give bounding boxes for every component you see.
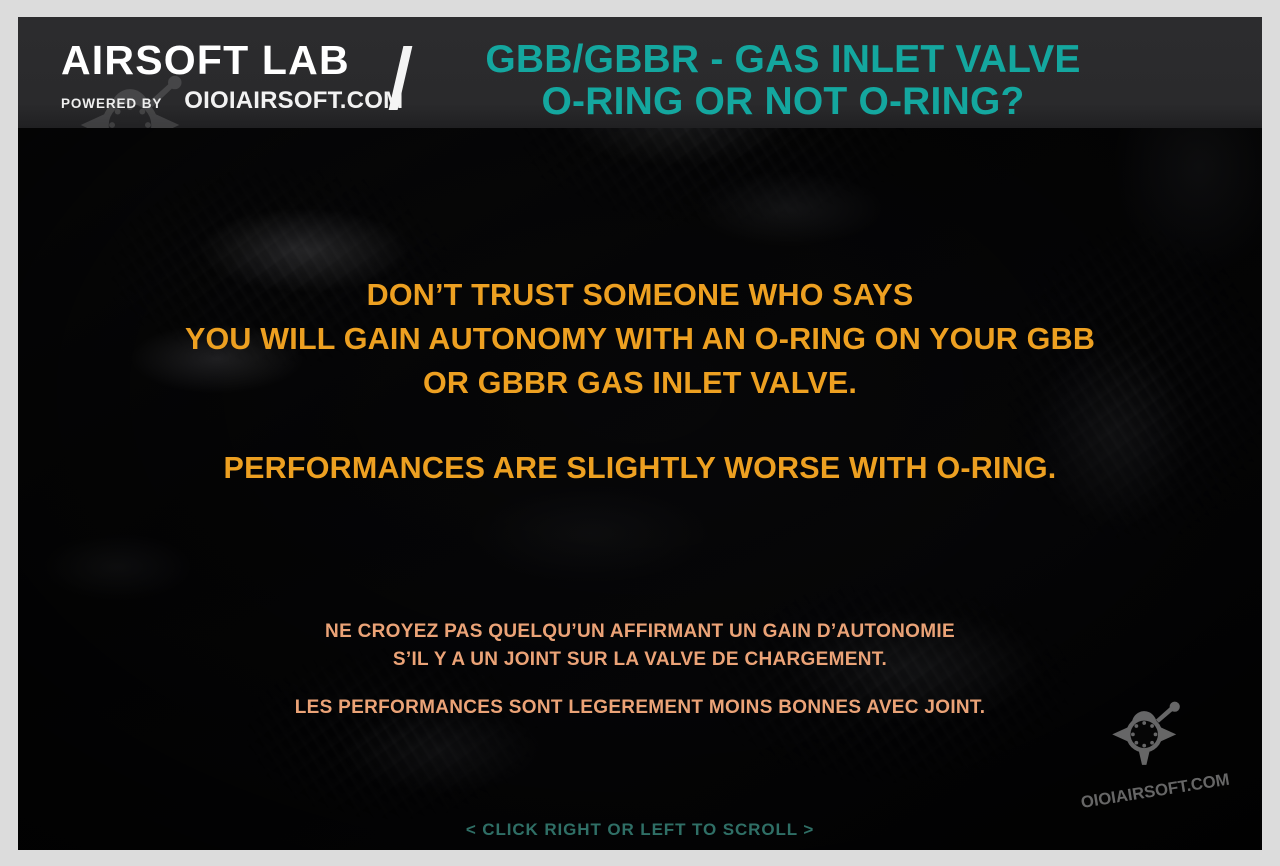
page-title-line-1: GBB/GBBR - GAS INLET VALVE [485, 38, 1080, 81]
secondary-line-2: S’IL Y A UN JOINT SUR LA VALVE DE CHARGE… [18, 646, 1262, 674]
brand-subtitle-row: POWERED BY OIOIAIRSOFT.COM [51, 87, 381, 115]
primary-line-2: YOU WILL GAIN AUTONOMY WITH AN O-RING ON… [18, 317, 1262, 361]
scroll-hint[interactable]: < CLICK RIGHT OR LEFT TO SCROLL > [18, 820, 1262, 840]
corner-watermark-logo-icon: OIOIAIRSOFT.COM [1072, 698, 1240, 808]
primary-line-3: OR GBBR GAS INLET VALVE. [18, 361, 1262, 405]
brand-title: AIRSOFT LAB [51, 40, 381, 81]
emphasis-message: PERFORMANCES ARE SLIGHTLY WORSE WITH O-R… [18, 451, 1262, 486]
primary-line-1: DON’T TRUST SOMEONE WHO SAYS [18, 273, 1262, 317]
watermark-domain-text: OIOIAIRSOFT.COM [1079, 770, 1230, 808]
brand-block[interactable]: AIRSOFT LAB POWERED BY OIOIAIRSOFT.COM [51, 40, 381, 115]
page-title: GBB/GBBR - GAS INLET VALVE O-RING OR NOT… [418, 39, 1148, 122]
slide-canvas[interactable]: AIRSOFT LAB POWERED BY OIOIAIRSOFT.COM G… [18, 17, 1262, 850]
brand-domain-label: OIOIAIRSOFT.COM [184, 87, 403, 115]
brand-powered-by-label: POWERED BY [61, 96, 162, 111]
page-title-line-2: O-RING OR NOT O-RING? [418, 81, 1148, 123]
slide-content-area: DON’T TRUST SOMEONE WHO SAYS YOU WILL GA… [18, 128, 1262, 850]
header-bar: AIRSOFT LAB POWERED BY OIOIAIRSOFT.COM G… [18, 17, 1262, 128]
primary-message-block: DON’T TRUST SOMEONE WHO SAYS YOU WILL GA… [18, 273, 1262, 405]
secondary-line-1: NE CROYEZ PAS QUELQU’UN AFFIRMANT UN GAI… [18, 618, 1262, 646]
secondary-spacer [18, 674, 1262, 694]
slide-outer-frame: AIRSOFT LAB POWERED BY OIOIAIRSOFT.COM G… [0, 0, 1280, 866]
